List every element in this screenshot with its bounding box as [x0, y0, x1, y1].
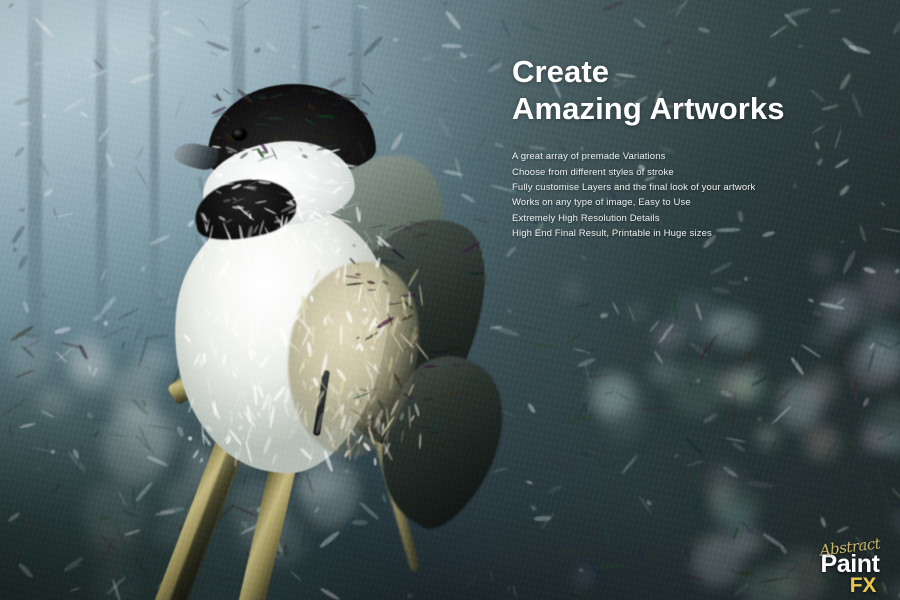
brand-logo: Abstract Paint FX	[808, 540, 892, 596]
feature-item: Fully customise Layers and the final loo…	[512, 180, 882, 195]
logo-suffix: FX	[834, 576, 892, 596]
feature-item: Extremely High Resolution Details	[512, 211, 882, 226]
feature-list: A great array of premade VariationsChoos…	[512, 149, 882, 241]
headline-line-2: Amazing Artworks	[512, 91, 882, 128]
feature-item: A great array of premade Variations	[512, 149, 882, 164]
feature-item: High End Final Result, Printable in Huge…	[512, 226, 882, 241]
poster-canvas: Create Amazing Artworks A great array of…	[0, 0, 900, 600]
feature-item: Works on any type of image, Easy to Use	[512, 195, 882, 210]
headline-line-1: Create	[512, 54, 609, 89]
marketing-copy-block: Create Amazing Artworks A great array of…	[512, 54, 882, 241]
headline: Create Amazing Artworks	[512, 54, 882, 127]
feature-item: Choose from different styles of stroke	[512, 165, 882, 180]
